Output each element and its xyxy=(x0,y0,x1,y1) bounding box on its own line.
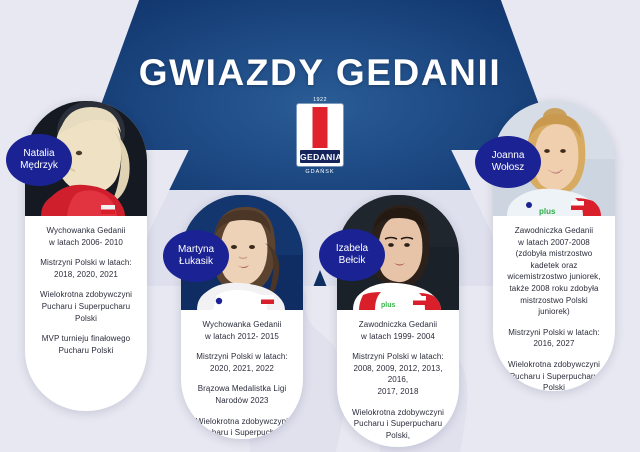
player-fact: MVP turnieju finałowegoPucharu Polski xyxy=(38,333,134,356)
player-fact: Brązowa Medalistka LigiNarodów 2023 xyxy=(194,383,290,406)
player-name-line2: Bełcik xyxy=(339,255,366,266)
player-facts: Wychowanka Gedaniiw latach 2006- 2010 Mi… xyxy=(25,216,147,372)
player-fact: Mistrzyni Polski w latach:2016, 2027 xyxy=(506,327,602,350)
poster-root: GWIAZDY GEDANII 1922 GEDANIA GDAŃSK xyxy=(0,0,640,452)
svg-text:plus: plus xyxy=(381,302,395,309)
player-facts: Zawodniczka Gedaniiw latach 1999- 2004 M… xyxy=(337,310,459,447)
svg-text:plus: plus xyxy=(539,207,556,216)
logo-club-name: GEDANIA xyxy=(300,150,340,163)
player-name-line1: Izabela xyxy=(336,243,368,254)
player-fact: Mistrzyni Polski w latach:2008, 2009, 20… xyxy=(350,351,446,397)
player-name-line1: Natalia xyxy=(23,148,54,159)
player-fact: Wielokrotna zdobywczyniPucharu i Superpu… xyxy=(350,407,446,442)
player-facts: Wychowanka Gedaniiw latach 2012- 2015 Mi… xyxy=(181,310,303,439)
player-name-badge: Natalia Mędrzyk xyxy=(6,134,72,186)
player-name-badge: Izabela Bełcik xyxy=(319,229,385,281)
player-fact: Zawodniczka Gedaniiw latach 1999- 2004 xyxy=(350,319,446,342)
player-fact: Mistrzyni Polski w latach:2020, 2021, 20… xyxy=(194,351,290,374)
player-name-line2: Mędrzyk xyxy=(20,160,58,171)
player-name-line2: Łukasik xyxy=(179,256,213,267)
player-name-badge: Martyna Łukasik xyxy=(163,230,229,282)
player-name-line2: Wołosz xyxy=(492,162,525,173)
player-fact: Wychowanka Gedaniiw latach 2012- 2015 xyxy=(194,319,290,342)
player-fact: Wychowanka Gedaniiw latach 2006- 2010 xyxy=(38,225,134,248)
gedania-club-logo: 1922 GEDANIA GDAŃSK xyxy=(294,97,346,189)
player-fact: Wielokrotna zdobywczyniPucharu i Superpu… xyxy=(38,289,134,324)
logo-city: GDAŃSK xyxy=(294,169,346,175)
player-name-line1: Joanna xyxy=(492,150,525,161)
logo-year: 1922 xyxy=(294,97,346,103)
player-facts: Zawodniczka Gedaniiw latach 2007-2008(zd… xyxy=(493,216,615,391)
player-name-badge: Joanna Wołosz xyxy=(475,136,541,188)
logo-shield: GEDANIA xyxy=(297,104,343,166)
player-fact: Mistrzyni Polski w latach:2018, 2020, 20… xyxy=(38,257,134,280)
logo-red-stripe xyxy=(313,107,328,148)
player-name-line1: Martyna xyxy=(178,244,214,255)
page-title: GWIAZDY GEDANII xyxy=(0,52,640,94)
player-fact: Zawodniczka Gedaniiw latach 2007-2008(zd… xyxy=(506,225,602,318)
